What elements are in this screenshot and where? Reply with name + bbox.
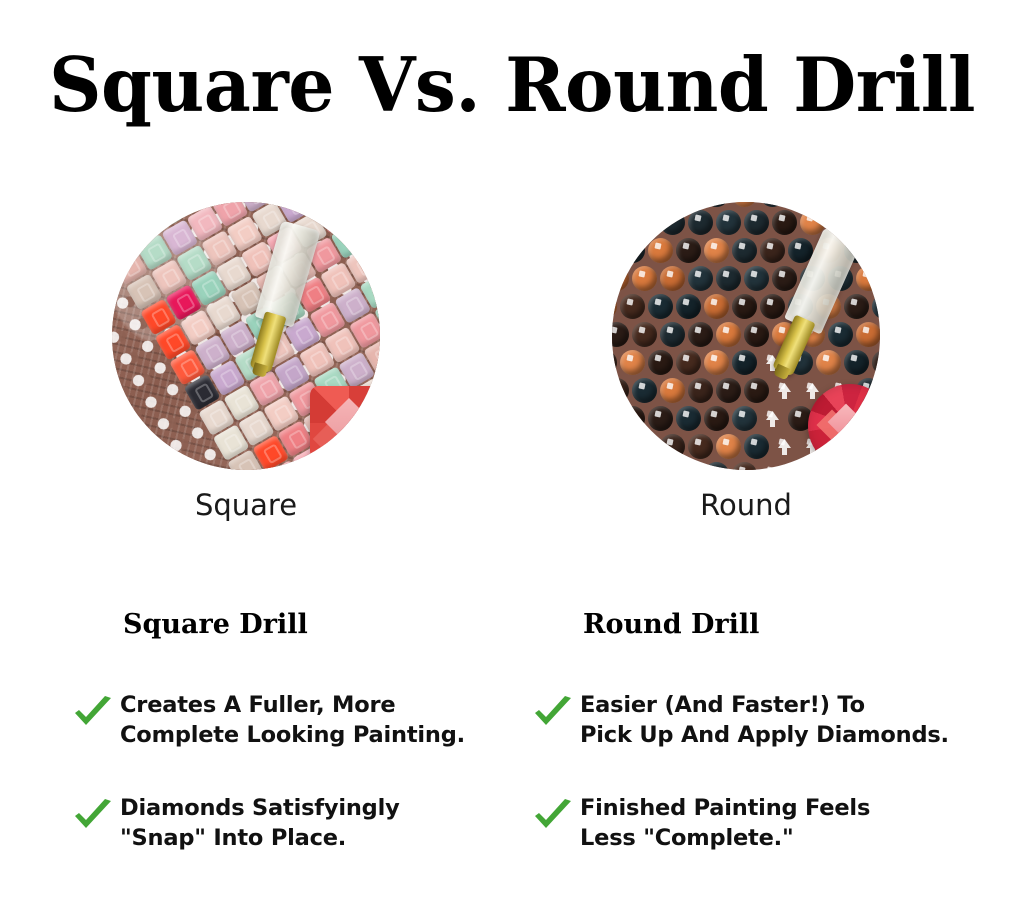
round-bead <box>676 238 701 263</box>
round-bead <box>688 210 713 235</box>
round-bead <box>856 322 880 347</box>
round-drill-photo <box>612 202 880 470</box>
round-bead <box>632 210 657 235</box>
round-bead <box>612 462 617 470</box>
round-bead <box>660 322 685 347</box>
round-bead <box>772 210 797 235</box>
round-bead <box>772 266 797 291</box>
round-bead <box>760 202 785 207</box>
round-bead <box>816 350 841 375</box>
round-bead <box>732 238 757 263</box>
square-drill-photo <box>112 202 380 470</box>
round-bead <box>660 434 685 459</box>
canvas-arrow-symbol <box>760 406 785 431</box>
round-bead <box>704 238 729 263</box>
list-item-label: Finished Painting Feels Less "Complete." <box>580 793 870 854</box>
round-bead <box>660 378 685 403</box>
round-bead <box>620 202 645 207</box>
square-photo-content <box>112 202 380 470</box>
round-bead <box>648 406 673 431</box>
round-bead <box>844 350 869 375</box>
round-bead <box>676 202 701 207</box>
round-bead <box>872 462 880 470</box>
canvas-arrow-symbol <box>772 378 797 403</box>
round-bead <box>612 378 629 403</box>
round-bead <box>632 434 657 459</box>
round-bead <box>612 322 629 347</box>
heading-square-drill: Square Drill <box>123 609 308 640</box>
round-bead <box>676 406 701 431</box>
round-bead <box>760 294 785 319</box>
list-item: Diamonds Satisfyingly "Snap" Into Place. <box>72 793 522 854</box>
page-title: Square Vs. Round Drill <box>15 48 1008 123</box>
check-icon <box>72 799 114 833</box>
round-bead <box>704 294 729 319</box>
round-bead <box>716 210 741 235</box>
round-bead <box>620 462 645 470</box>
round-bead <box>732 202 757 207</box>
round-bead <box>612 350 617 375</box>
round-bead <box>660 266 685 291</box>
caption-square: Square <box>112 488 380 522</box>
list-item: Finished Painting Feels Less "Complete." <box>532 793 982 854</box>
round-bead <box>676 350 701 375</box>
round-bead <box>844 202 869 207</box>
round-bead <box>872 202 880 207</box>
round-bead <box>620 238 645 263</box>
round-bead <box>612 294 617 319</box>
bead-row <box>612 321 880 349</box>
list-item-label: Creates A Fuller, More Complete Looking … <box>120 690 465 751</box>
round-bead <box>620 406 645 431</box>
round-bead <box>612 202 617 207</box>
round-bead <box>744 322 769 347</box>
round-bead <box>744 378 769 403</box>
pen-tip <box>249 311 286 373</box>
round-bead <box>788 462 813 470</box>
round-bead <box>704 462 729 470</box>
round-bead <box>732 294 757 319</box>
round-bead <box>844 294 869 319</box>
round-bead <box>816 202 841 207</box>
canvas-arrow-symbol <box>772 434 797 459</box>
round-bead <box>732 462 757 470</box>
round-bead <box>744 434 769 459</box>
check-icon <box>72 696 114 730</box>
round-bead <box>620 294 645 319</box>
bead-row <box>612 293 880 321</box>
bead-row <box>612 209 880 237</box>
check-icon <box>532 799 574 833</box>
round-bead <box>872 238 880 263</box>
heading-round-drill: Round Drill <box>583 609 759 640</box>
round-bead <box>620 350 645 375</box>
round-bead <box>704 350 729 375</box>
canvas-arrow-symbol <box>760 462 785 470</box>
round-bead <box>716 434 741 459</box>
round-bead <box>688 266 713 291</box>
round-bead <box>632 322 657 347</box>
round-bead <box>716 322 741 347</box>
round-bead <box>688 378 713 403</box>
round-bead <box>612 406 617 431</box>
round-bead <box>688 322 713 347</box>
round-bead <box>648 238 673 263</box>
round-bead <box>612 238 617 263</box>
bead-row <box>612 349 880 377</box>
round-bead <box>612 266 629 291</box>
square-drill-benefits: Creates A Fuller, More Complete Looking … <box>72 690 522 896</box>
round-bead <box>648 462 673 470</box>
check-icon <box>532 696 574 730</box>
round-bead <box>612 210 629 235</box>
round-bead <box>856 266 880 291</box>
round-bead <box>828 322 853 347</box>
square-gem-closeup <box>310 386 380 460</box>
round-bead <box>744 266 769 291</box>
round-bead <box>760 238 785 263</box>
round-photo-content <box>612 202 880 470</box>
round-bead <box>732 350 757 375</box>
round-bead <box>788 202 813 207</box>
round-drill-benefits: Easier (And Faster!) To Pick Up And Appl… <box>532 690 982 896</box>
round-bead <box>688 434 713 459</box>
caption-round: Round <box>612 488 880 522</box>
round-bead <box>704 406 729 431</box>
list-item: Easier (And Faster!) To Pick Up And Appl… <box>532 690 982 751</box>
round-bead <box>648 202 673 207</box>
round-bead <box>612 434 629 459</box>
round-bead <box>716 378 741 403</box>
list-item-label: Easier (And Faster!) To Pick Up And Appl… <box>580 690 949 751</box>
round-bead <box>632 378 657 403</box>
round-bead <box>732 406 757 431</box>
round-bead <box>660 210 685 235</box>
round-bead <box>632 266 657 291</box>
list-item-label: Diamonds Satisfyingly "Snap" Into Place. <box>120 793 400 854</box>
round-bead <box>744 210 769 235</box>
round-bead <box>648 294 673 319</box>
round-bead <box>872 294 880 319</box>
round-bead <box>856 210 880 235</box>
round-bead <box>648 350 673 375</box>
round-bead <box>676 462 701 470</box>
round-bead <box>716 266 741 291</box>
round-bead <box>872 350 880 375</box>
round-bead <box>704 202 729 207</box>
list-item: Creates A Fuller, More Complete Looking … <box>72 690 522 751</box>
round-bead <box>676 294 701 319</box>
